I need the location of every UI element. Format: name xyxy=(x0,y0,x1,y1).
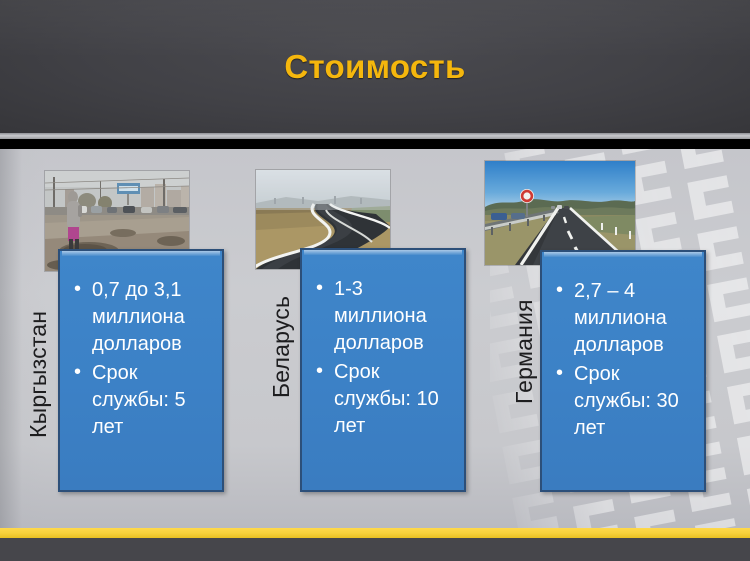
fact-box-1: 0,7 до 3,1 миллиона долларов Срок службы… xyxy=(58,249,224,492)
presentation-slide: Стоимость xyxy=(0,0,750,561)
list-item: 1-3 миллиона долларов xyxy=(316,276,456,357)
list-item: 0,7 до 3,1 миллиона долларов xyxy=(74,277,214,358)
list-item: Срок службы: 5 лет xyxy=(74,360,214,441)
list-item: Срок службы: 10 лет xyxy=(316,359,456,440)
fact-box-2: 1-3 миллиона долларов Срок службы: 10 ле… xyxy=(300,248,466,492)
slide-footer xyxy=(0,538,750,561)
list-item: Срок службы: 30 лет xyxy=(556,361,696,442)
fact-list-2: 1-3 миллиона долларов Срок службы: 10 ле… xyxy=(316,276,456,442)
fact-list-3: 2,7 – 4 миллиона долларов Срок службы: 3… xyxy=(556,278,696,444)
header-divider-dark xyxy=(0,139,750,149)
page-title: Стоимость xyxy=(0,48,750,86)
country-label-2: Беларусь xyxy=(268,272,295,398)
accent-bar xyxy=(0,528,750,538)
fact-list-1: 0,7 до 3,1 миллиона долларов Срок службы… xyxy=(74,277,214,443)
fact-box-3: 2,7 – 4 миллиона долларов Срок службы: 3… xyxy=(540,250,706,492)
country-label-1: Кыргызстан xyxy=(25,262,52,438)
list-item: 2,7 – 4 миллиона долларов xyxy=(556,278,696,359)
country-label-3: Германия xyxy=(511,272,538,404)
